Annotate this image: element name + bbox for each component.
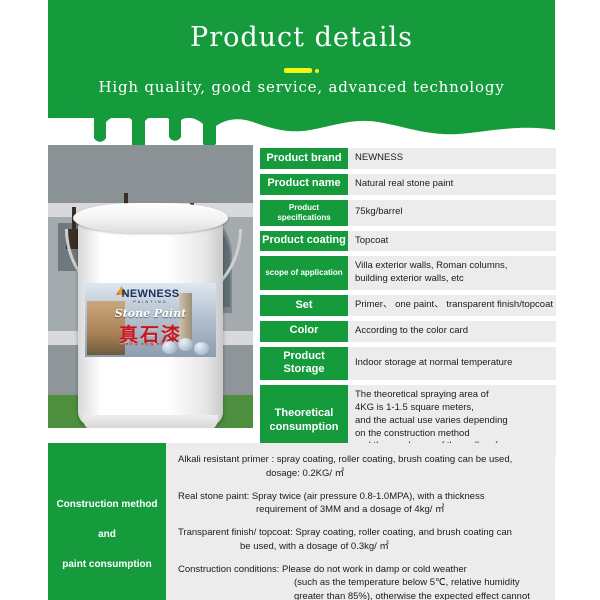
specifications-table: Product brand NEWNESS Product name Natur…	[260, 148, 556, 462]
table-row: scope of application Villa exterior wall…	[260, 256, 556, 290]
label-stones-artwork	[162, 337, 210, 355]
spec-label: Set	[260, 295, 348, 316]
spec-label: Product brand	[260, 148, 348, 169]
page-title: Product details	[48, 22, 555, 53]
spec-label: Product name	[260, 174, 348, 195]
page-subtitle: High quality, good service, advanced tec…	[48, 78, 555, 96]
bucket-base	[83, 415, 218, 428]
construction-item-cont: (such as the temperature below 5℃, relat…	[178, 576, 547, 600]
construction-item-lead: Transparent finish/ topcoat: Spray coati…	[178, 527, 512, 538]
construction-method-section: Construction method and paint consumptio…	[48, 443, 555, 600]
table-row: Product name Natural real stone paint	[260, 174, 556, 195]
accent-dot-icon	[315, 69, 319, 73]
label-brand-subtext: PAINTING	[85, 299, 216, 304]
construction-item-cont: be used, with a dosage of 0.3kg/ ㎡	[178, 540, 547, 554]
title-accent	[48, 62, 555, 70]
bucket-product-label: NEWNESS PAINTING Stone Paint 真石漆 ●环保 ●耐候…	[85, 283, 216, 357]
spec-value: Villa exterior walls, Roman columns, bui…	[348, 256, 556, 290]
spec-value: Natural real stone paint	[348, 174, 556, 195]
construction-body: Alkali resistant primer : spray coating,…	[166, 443, 555, 600]
construction-item-lead: Construction conditions: Please do not w…	[178, 564, 467, 575]
spec-label: Color	[260, 321, 348, 342]
construction-item: Construction conditions: Please do not w…	[178, 563, 547, 600]
construction-item-cont: dosage: 0.2KG/ ㎡	[178, 467, 547, 481]
table-row: Color According to the color card	[260, 321, 556, 342]
construction-item-cont: requirement of 3MM and a dosage of 4kg/ …	[178, 503, 547, 517]
bucket-lid	[73, 203, 228, 233]
table-row: Product specifications 75kg/barrel	[260, 200, 556, 226]
accent-bar-icon	[284, 68, 312, 73]
spec-value: Topcoat	[348, 231, 556, 252]
spec-value: NEWNESS	[348, 148, 556, 169]
construction-item-lead: Real stone paint: Spray twice (air press…	[178, 491, 485, 502]
label-product-en-text: Stone Paint	[85, 307, 216, 320]
spec-value: Indoor storage at normal temperature	[348, 347, 556, 381]
construction-item: Real stone paint: Spray twice (air press…	[178, 490, 547, 518]
construction-label-line1: Construction method	[56, 499, 157, 511]
table-row: Product brand NEWNESS	[260, 148, 556, 169]
spec-value: 75kg/barrel	[348, 200, 556, 226]
header-banner: Product details High quality, good servi…	[48, 0, 555, 118]
spec-label: scope of application	[260, 256, 348, 290]
spec-label: Product Storage	[260, 347, 348, 381]
spec-label: Product coating	[260, 231, 348, 252]
table-row: Product coating Topcoat	[260, 231, 556, 252]
product-details-page: Product details High quality, good servi…	[0, 0, 600, 600]
construction-label-line2: and	[98, 529, 116, 541]
spec-label: Product specifications	[260, 200, 348, 226]
construction-item: Transparent finish/ topcoat: Spray coati…	[178, 526, 547, 554]
paint-bucket: NEWNESS PAINTING Stone Paint 真石漆 ●环保 ●耐候…	[59, 203, 242, 428]
product-photo: NEWNESS PAINTING Stone Paint 真石漆 ●环保 ●耐候…	[48, 145, 253, 428]
spec-value: According to the color card	[348, 321, 556, 342]
table-row: Set Primer、 one paint、 transparent finis…	[260, 295, 556, 316]
construction-label-line3: paint consumption	[62, 559, 151, 571]
construction-item-lead: Alkali resistant primer : spray coating,…	[178, 454, 512, 465]
table-row: Product Storage Indoor storage at normal…	[260, 347, 556, 381]
spec-value: Primer、 one paint、 transparent finish/to…	[348, 295, 556, 316]
construction-item: Alkali resistant primer : spray coating,…	[178, 453, 547, 481]
construction-label: Construction method and paint consumptio…	[48, 443, 166, 600]
